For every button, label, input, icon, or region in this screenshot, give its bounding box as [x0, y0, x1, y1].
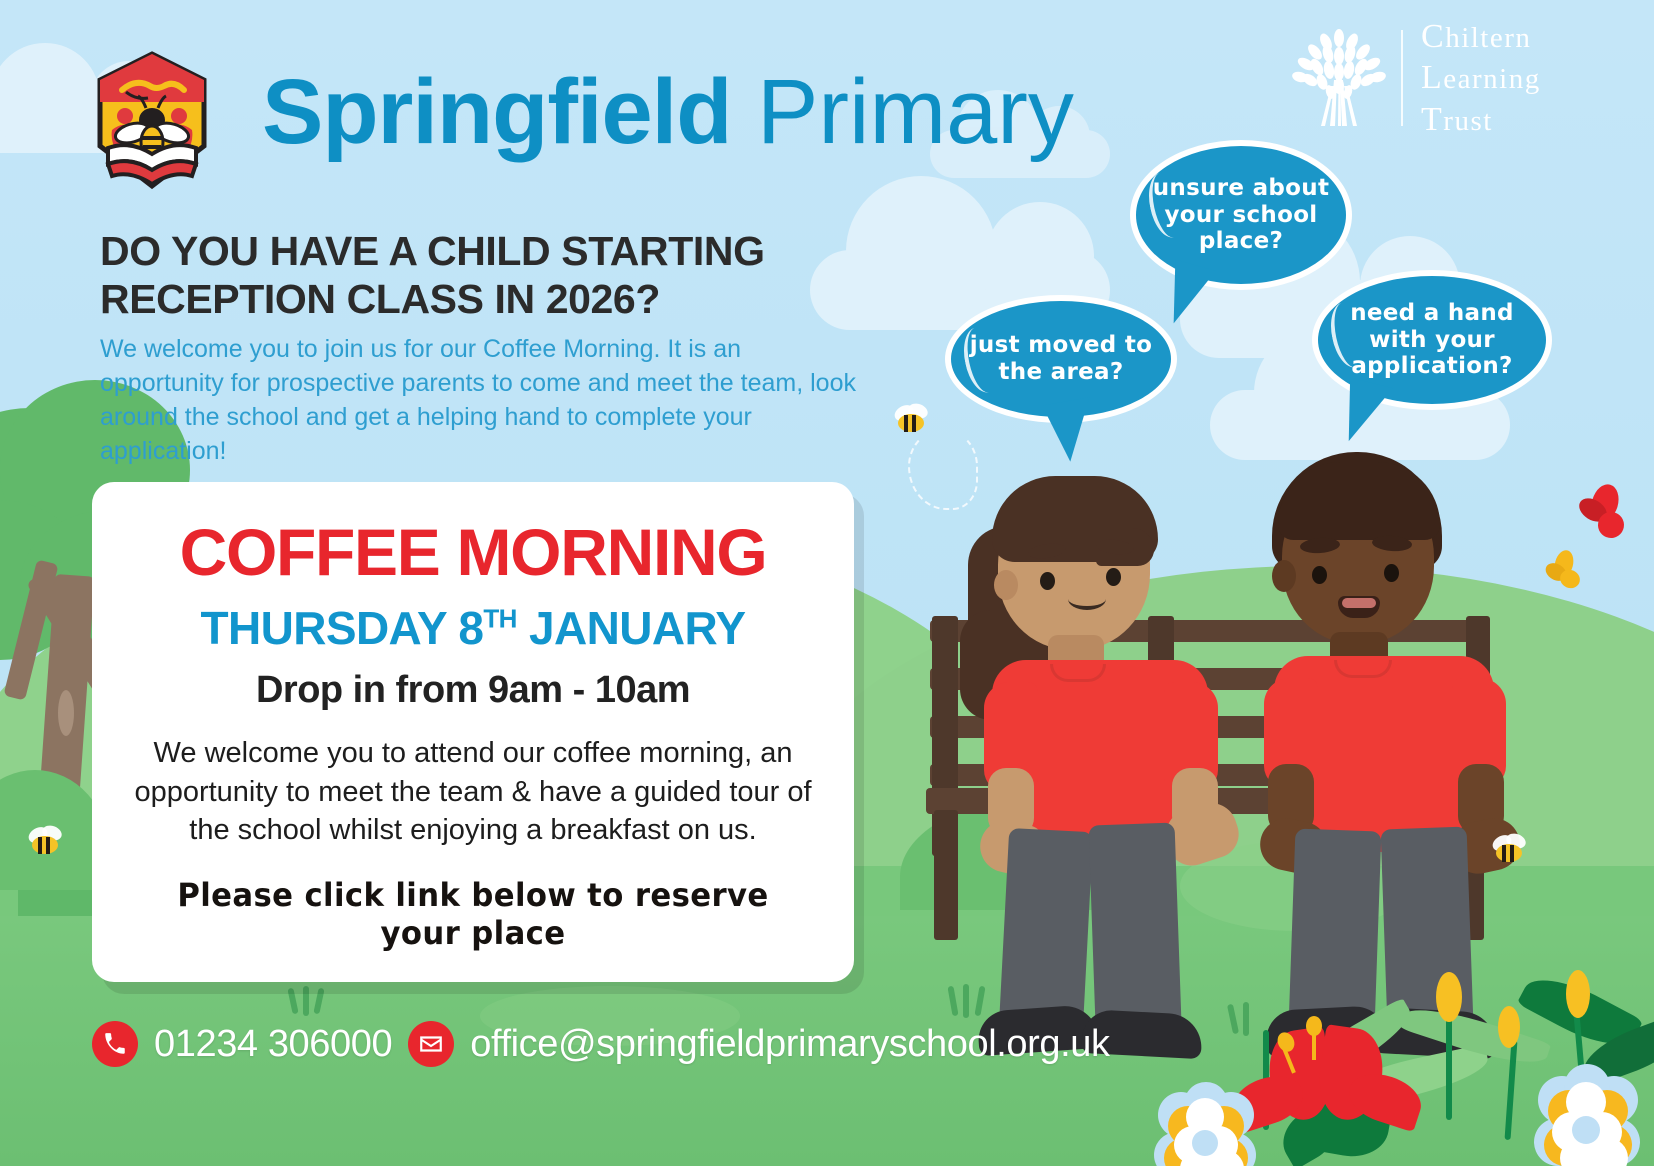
event-time: Drop in from 9am - 10am — [126, 669, 820, 712]
school-name-bold: Springfield — [262, 61, 731, 163]
bubble-moved: just moved to the area? — [945, 295, 1177, 423]
trust-line-3: Trust — [1421, 99, 1541, 140]
event-description: We welcome you to attend our coffee morn… — [126, 734, 820, 850]
school-crest-icon — [92, 50, 212, 190]
trust-logo: Chiltern Learning Trust — [1282, 18, 1632, 138]
children-on-bench-illustration — [900, 420, 1654, 1040]
envelope-icon — [408, 1021, 454, 1067]
grass-blade — [303, 986, 309, 1016]
intro-paragraph: We welcome you to join us for our Coffee… — [100, 332, 860, 468]
tree-icon — [1282, 22, 1397, 134]
bubble-text: unsure about your school place? — [1136, 175, 1346, 255]
bubble-unsure: unsure about your school place? — [1130, 140, 1352, 290]
contact-bar: 01234 306000 office@springfieldprimarysc… — [92, 1016, 1192, 1072]
headline: DO YOU HAVE A CHILD STARTING RECEPTION C… — [100, 228, 800, 323]
page-title: Springfield Primary — [262, 64, 1074, 161]
trust-line-1: Chiltern — [1421, 16, 1541, 57]
event-cta[interactable]: Please click link below to reserve your … — [140, 876, 806, 952]
bubble-hand: need a hand with your application? — [1312, 270, 1552, 410]
event-date-ordinal: TH — [483, 604, 516, 634]
event-title: COFFEE MORNING — [126, 518, 820, 587]
event-date-suffix: JANUARY — [517, 602, 746, 654]
contact-email[interactable]: office@springfieldprimaryschool.org.uk — [470, 1023, 1109, 1066]
bud — [1566, 970, 1590, 1018]
poster-canvas: Springfield Primary — [0, 0, 1654, 1166]
phone-icon — [92, 1021, 138, 1067]
contact-phone[interactable]: 01234 306000 — [154, 1023, 392, 1066]
trust-name: Chiltern Learning Trust — [1421, 16, 1541, 140]
trust-line-2: Learning — [1421, 57, 1541, 98]
bud — [1498, 1006, 1520, 1048]
bud — [1436, 972, 1462, 1022]
event-date: THURSDAY 8TH JANUARY — [126, 601, 820, 655]
school-name-light: Primary — [757, 61, 1074, 163]
event-card: COFFEE MORNING THURSDAY 8TH JANUARY Drop… — [92, 482, 854, 982]
bubble-text: need a hand with your application? — [1318, 300, 1546, 380]
bubble-text: just moved to the area? — [951, 332, 1171, 385]
event-date-prefix: THURSDAY 8 — [201, 602, 484, 654]
divider — [1401, 30, 1403, 126]
